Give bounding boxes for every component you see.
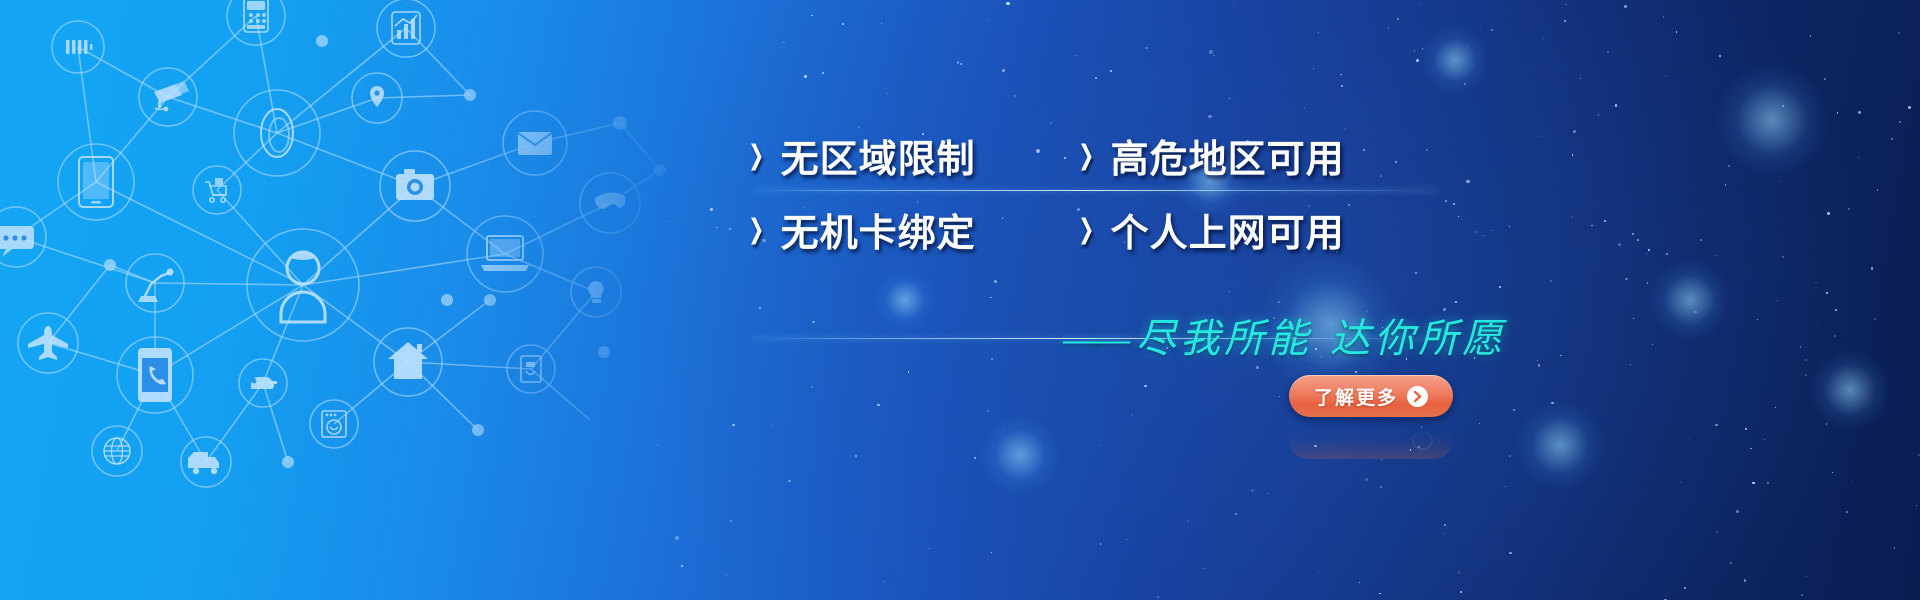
node-calculator-icon bbox=[227, 0, 285, 45]
node-cctv-camera-icon bbox=[139, 68, 197, 126]
feature-label: 无区域限制 bbox=[781, 128, 976, 183]
feature-item-no-sim-binding[interactable]: ❯ 无机卡绑定 bbox=[745, 192, 1075, 266]
iot-network-graphic bbox=[0, 0, 700, 600]
node-chat-bubble-icon bbox=[0, 207, 46, 267]
chevron-right-icon: ❯ bbox=[1078, 142, 1094, 169]
tagline-dash: —— bbox=[1063, 316, 1126, 361]
node-car-key-icon bbox=[239, 359, 287, 407]
cta-container: 了解更多 bbox=[1289, 375, 1469, 445]
arrow-right-circle-icon bbox=[1407, 386, 1428, 407]
node-vr-headset-icon bbox=[580, 173, 640, 233]
feature-label: 个人上网可用 bbox=[1111, 202, 1345, 257]
feature-label: 高危地区可用 bbox=[1111, 128, 1345, 183]
feature-row-2: ❯ 无机卡绑定 ❯ 个人上网可用 bbox=[745, 192, 1405, 266]
feature-label: 无机卡绑定 bbox=[781, 202, 976, 257]
node-battery-icon bbox=[52, 21, 104, 73]
feature-list: ❯ 无区域限制 ❯ 高危地区可用 ❯ 无机卡绑定 ❯ 个人上网可用 bbox=[745, 118, 1405, 266]
node-chart-icon bbox=[377, 0, 435, 57]
node-delivery-truck-icon bbox=[181, 437, 231, 487]
cta-reflection bbox=[1289, 423, 1453, 459]
promo-banner: ❯ 无区域限制 ❯ 高危地区可用 ❯ 无机卡绑定 ❯ 个人上网可用 ——尽我所能… bbox=[0, 0, 1920, 600]
tagline: ——尽我所能达你所愿 bbox=[1063, 306, 1483, 364]
node-airplane-icon bbox=[18, 313, 78, 373]
node-laptop-icon bbox=[467, 216, 543, 292]
chevron-right-icon: ❯ bbox=[748, 142, 764, 169]
node-smartphone-call-icon bbox=[117, 337, 193, 413]
chevron-right-icon: ❯ bbox=[1078, 216, 1094, 243]
node-tablet-icon bbox=[58, 144, 134, 220]
learn-more-label: 了解更多 bbox=[1314, 383, 1398, 410]
feature-item-personal-internet[interactable]: ❯ 个人上网可用 bbox=[1075, 192, 1405, 266]
feature-item-high-risk-area[interactable]: ❯ 高危地区可用 bbox=[1075, 118, 1405, 192]
feature-divider-1 bbox=[753, 190, 1437, 191]
node-lightbulb-icon bbox=[571, 267, 621, 317]
feature-row-1: ❯ 无区域限制 ❯ 高危地区可用 bbox=[745, 118, 1405, 192]
learn-more-button[interactable]: 了解更多 bbox=[1289, 375, 1453, 417]
node-smart-home-icon bbox=[374, 328, 442, 396]
chevron-right-icon: ❯ bbox=[748, 216, 764, 243]
feature-item-no-region-limit[interactable]: ❯ 无区域限制 bbox=[745, 118, 1075, 192]
network-links bbox=[16, 16, 660, 462]
network-dots bbox=[104, 35, 666, 468]
tagline-part-1: 尽我所能 bbox=[1136, 316, 1312, 361]
tagline-part-2: 达你所愿 bbox=[1330, 316, 1506, 361]
node-envelope-icon bbox=[503, 111, 567, 175]
node-camera-icon bbox=[380, 151, 450, 221]
node-globe-icon bbox=[92, 426, 142, 476]
